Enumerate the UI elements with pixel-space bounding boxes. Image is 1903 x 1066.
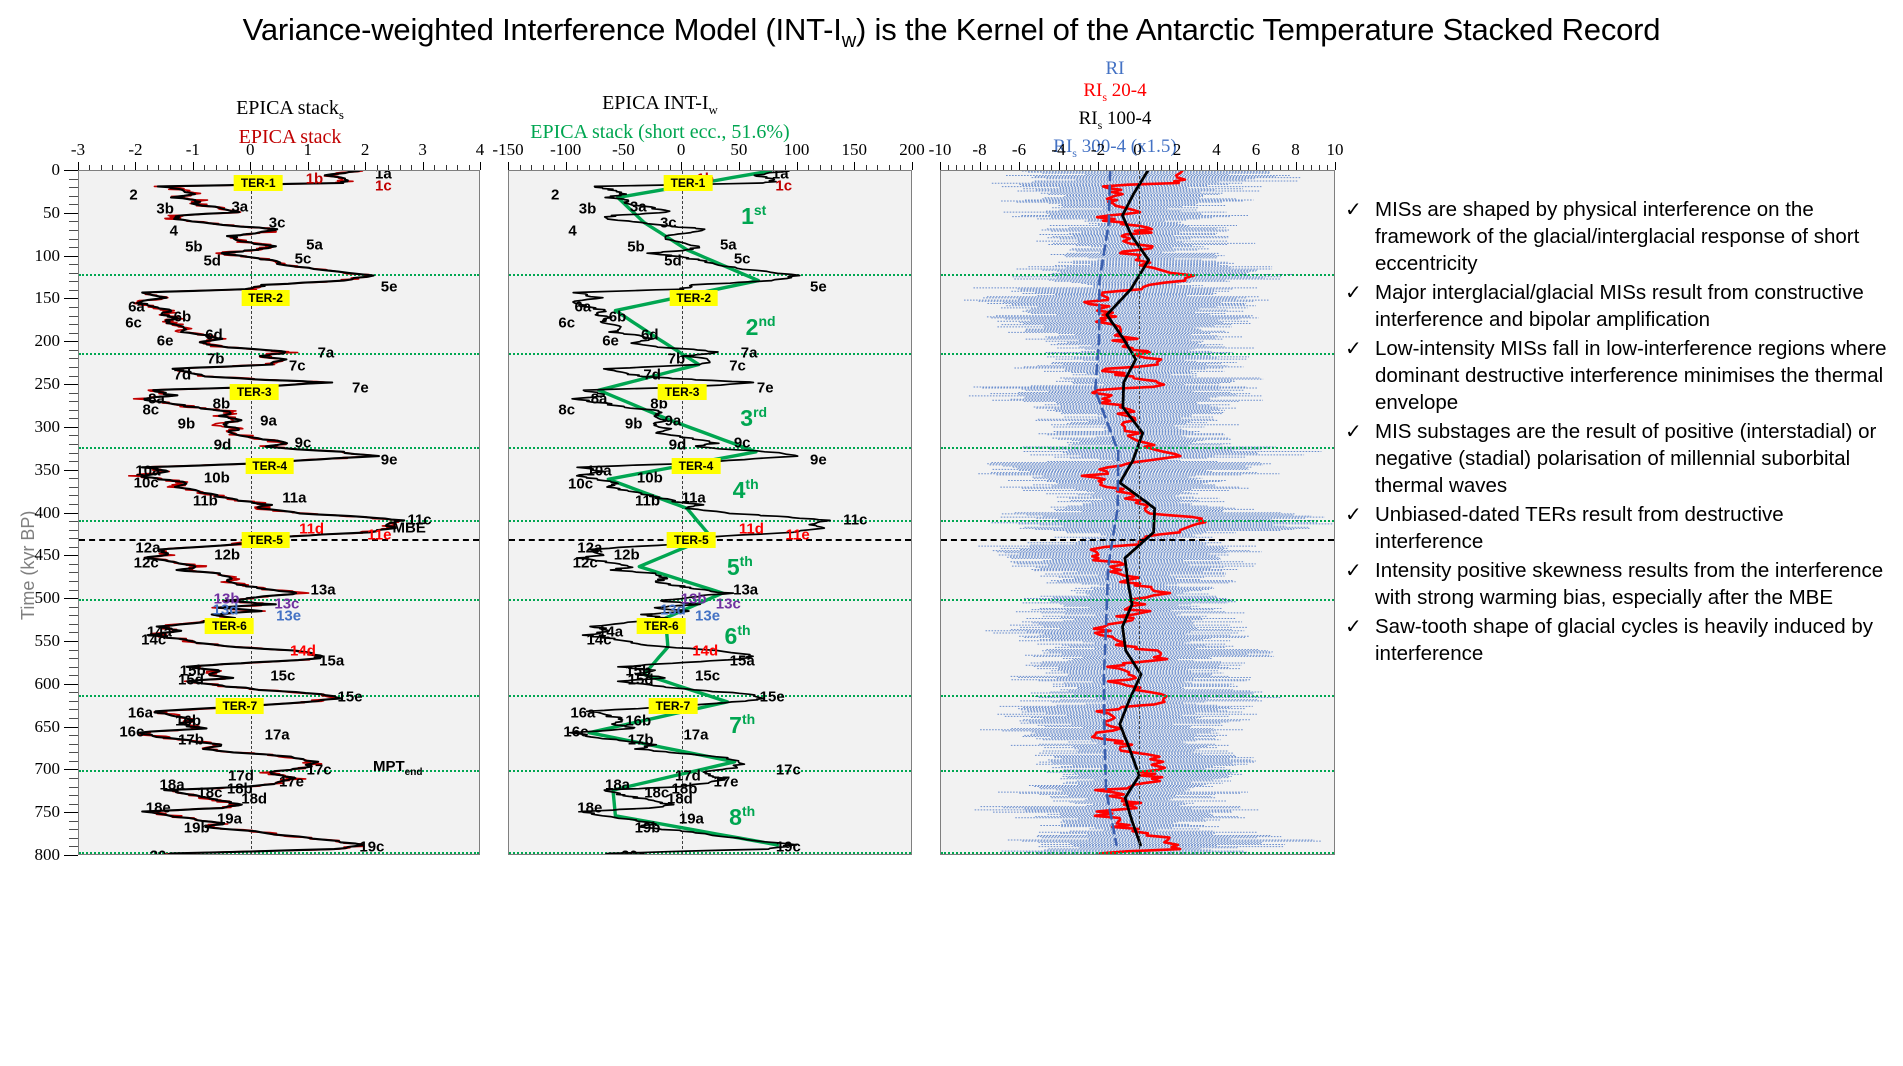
x-tick [956,165,957,170]
y-tick [64,684,78,685]
x-tick [1066,165,1067,170]
x-tick [600,165,601,170]
x-tick [704,165,705,170]
y-tick [69,204,78,205]
x-tick [1027,165,1028,170]
ordinal-number: 7 [729,712,742,738]
mis-label-5b: 5b [627,239,645,256]
x-tick [612,165,613,170]
mis-label-17e: 17e [279,773,304,790]
mis-label-7a: 7a [318,345,335,362]
conclusion-item: ✓Unbiased-dated TERs result from destruc… [1345,501,1890,555]
mis-label-5c: 5c [295,251,312,268]
mis-label-9a: 9a [260,413,277,430]
x-tick [1090,165,1091,170]
y-tick-label: 200 [0,331,60,351]
x-tick [623,162,624,170]
mis-label-18d: 18d [241,790,267,807]
mis-label-16a: 16a [128,705,153,722]
mis-label-7c: 7c [729,358,746,375]
x-tick-label: -1 [186,140,200,160]
mis-label-18d: 18d [667,790,693,807]
mis-label-15a: 15a [319,652,344,669]
x-tick [227,165,228,170]
y-tick [69,367,78,368]
x-tick [204,165,205,170]
marker-line [941,520,1334,522]
y-tick [69,444,78,445]
mis-label-11a: 11a [682,490,706,507]
x-tick-label: 200 [899,140,925,160]
ordinal-suffix: th [740,553,753,569]
mis-label-17b: 17b [628,731,654,748]
mis-label-7e: 7e [352,379,369,396]
ordinal-number: 3 [740,404,753,430]
legend-rest: 100-4 [1102,108,1151,129]
y-tick [69,487,78,488]
mis-label-9a: 9a [665,413,682,430]
mis-label-17c: 17c [307,761,332,778]
check-icon: ✓ [1345,279,1375,306]
conclusion-item: ✓MIS substages are the result of positiv… [1345,418,1890,499]
y-tick [64,170,78,171]
mis-label-3a: 3a [630,198,647,215]
termination-label-TER-4: TER-4 [672,458,721,474]
conclusion-item: ✓Low-intensity MISs fall in low-interfer… [1345,335,1890,416]
x-tick [727,165,728,170]
mis-label-19c: 19c [776,839,801,855]
y-tick [64,298,78,299]
x-tick-row-1 [78,162,480,170]
mis-label-4: 4 [568,222,576,239]
x-tick-label: 100 [784,140,810,160]
y-tick [69,401,78,402]
title-pre: Variance-weighted Interference Model (IN… [243,12,842,47]
mpt-label: MPTend [373,758,422,778]
y-tick [69,675,78,676]
x-tick [877,165,878,170]
ordinal-number: 8 [729,804,742,830]
y-tick [69,358,78,359]
termination-label-TER-5: TER-5 [241,532,290,548]
mis-label-9d: 9d [214,437,232,454]
x-tick [693,165,694,170]
panel2-plot[interactable]: 1a1b1c23b3a3c45b5a5d5c5e6a6b6c6d6e7b7a7c… [508,170,912,855]
mis-label-20a: 20a [150,848,175,856]
x-tick-label: -4 [1051,140,1065,160]
mis-label-3a: 3a [231,198,248,215]
legend-text: RI [1106,58,1125,79]
check-icon: ✓ [1345,557,1375,584]
termination-label-TER-6: TER-6 [205,618,254,634]
x-tick [1264,165,1265,170]
mis-label-15a: 15a [730,652,755,669]
mpt-sub: end [405,767,423,778]
mis-label-9c: 9c [734,435,751,452]
y-tick [69,521,78,522]
conclusion-text: Unbiased-dated TERs result from destruct… [1375,501,1890,555]
x-tick-label: -8 [972,140,986,160]
x-tick [1106,165,1107,170]
y-tick [69,264,78,265]
x-tick [181,165,182,170]
mis-label-7d: 7d [174,366,192,383]
cycle-ordinal-5: 5th [727,553,753,581]
y-tick [69,795,78,796]
mis-label-9c: 9c [295,435,312,452]
x-tick [889,165,890,170]
panel3-legend-item-1: RIs 20-4 [960,80,1270,108]
x-tick [681,162,682,170]
x-tick-label: 0 [246,140,255,160]
x-tick [1019,162,1020,170]
panel3-legend-item-2: RIs 100-4 [960,108,1270,136]
y-tick-label: 550 [0,631,60,651]
mis-label-18e: 18e [577,800,602,817]
mis-label-19a: 19a [217,811,242,828]
x-tick-label: 3 [418,140,427,160]
mis-label-18c: 18c [197,785,222,802]
mis-label-17b: 17b [178,731,204,748]
y-tick [69,615,78,616]
mis-label-3b: 3b [579,200,597,217]
x-tick [1201,165,1202,170]
x-tick [377,165,378,170]
x-tick [900,165,901,170]
x-tick-row-3 [940,162,1335,170]
x-tick [912,162,913,170]
x-tick [1074,165,1075,170]
conclusion-item: ✓Saw-tooth shape of glacial cycles is he… [1345,613,1890,667]
panel1-plot[interactable]: 1a1b1c23b3a3c45b5a5d5c5e6a6b6c6d6e7b7a7c… [78,170,480,855]
mis-label-7b: 7b [668,350,686,367]
x-tick-label: -2 [128,140,142,160]
conclusions-list: ✓MISs are shaped by physical interferenc… [1345,196,1890,669]
y-tick [69,196,78,197]
mis-label-11e: 11e [785,526,809,543]
mis-label-11b: 11b [193,492,218,509]
mis-label-7e: 7e [757,379,774,396]
ordinal-number: 2 [746,314,759,340]
x-tick [89,165,90,170]
y-tick [69,478,78,479]
mis-label-19a: 19a [679,811,704,828]
mis-label-13d: 13d [660,602,686,619]
x-tick [980,162,981,170]
mis-label-11c: 11c [843,512,867,529]
y-tick [69,461,78,462]
x-axis-labels-3: -10-8-6-4-20246810 [940,140,1335,162]
mis-label-16a: 16a [570,705,595,722]
x-tick-label: 10 [1327,140,1344,160]
mis-label-8c: 8c [558,401,575,418]
mis-label-18a: 18a [160,776,185,793]
y-tick [69,538,78,539]
x-tick [423,162,424,170]
mis-label-16c: 16c [563,723,588,740]
y-tick [69,179,78,180]
x-tick [1098,162,1099,170]
y-tick [69,453,78,454]
panel2-header-line1: EPICA INT-Iw [450,92,870,121]
y-tick-label: 350 [0,460,60,480]
y-tick [69,333,78,334]
x-tick-label: 8 [1291,140,1300,160]
mis-label-14c: 14c [141,632,166,649]
y-tick [69,376,78,377]
y-tick [69,650,78,651]
x-tick [987,165,988,170]
y-tick-label: 50 [0,203,60,223]
panel1-header-line1: EPICA stacks [100,97,480,126]
x-tick [78,162,79,170]
mis-label-18a: 18a [605,776,630,793]
x-tick [1177,162,1178,170]
x-tick [296,165,297,170]
y-tick [69,281,78,282]
y-tick [69,658,78,659]
x-tick [1130,165,1131,170]
mis-label-14d: 14d [692,643,718,660]
x-tick [566,162,567,170]
mis-label-19c: 19c [359,839,384,855]
cycle-ordinal-8: 8th [729,804,755,832]
x-tick [1240,165,1241,170]
mbe-line [941,539,1334,541]
title-post: ) is the Kernel of the Antarctic Tempera… [856,12,1660,47]
termination-label-TER-4: TER-4 [245,458,294,474]
x-tick [1003,165,1004,170]
mpt-text: MPT [373,758,405,775]
y-tick [69,230,78,231]
x-tick [670,165,671,170]
ordinal-suffix: th [742,804,755,820]
mis-label-11e: 11e [367,526,391,543]
x-tick [216,165,217,170]
y-tick [69,624,78,625]
mis-label-5c: 5c [734,251,751,268]
x-tick [400,165,401,170]
x-tick-label: -3 [71,140,85,160]
mis-label-1c: 1c [375,178,392,195]
x-tick [457,165,458,170]
x-tick [808,165,809,170]
y-tick [69,221,78,222]
y-tick [64,727,78,728]
mis-label-5d: 5d [664,252,682,269]
ordinal-number: 6 [725,623,738,649]
y-tick [69,393,78,394]
x-tick [995,165,996,170]
termination-label-TER-7: TER-7 [649,698,698,714]
ordinal-suffix: rd [753,404,767,420]
y-tick [69,752,78,753]
x-tick [1169,165,1170,170]
ordinal-suffix: th [737,622,750,638]
y-tick [69,564,78,565]
x-tick [739,162,740,170]
mis-label-7b: 7b [207,350,225,367]
ordinal-suffix: st [754,203,766,219]
mis-label-6b: 6b [609,308,627,325]
y-tick [69,667,78,668]
panel3-plot[interactable] [940,170,1335,855]
mis-label-11a: 11a [282,490,306,507]
mis-label-6d: 6d [205,326,223,343]
mis-label-12c: 12c [573,555,598,572]
mis-label-14c: 14c [587,632,612,649]
termination-label-TER-7: TER-7 [215,698,264,714]
y-tick [69,572,78,573]
mis-label-6a: 6a [575,299,592,316]
y-tick [69,709,78,710]
y-tick [69,435,78,436]
cycle-ordinal-3: 3rd [740,404,767,432]
mis-label-8b: 8b [213,395,231,412]
mis-label-15e: 15e [338,688,363,705]
x-tick-label: 150 [842,140,868,160]
y-tick [64,384,78,385]
mis-label-13a: 13a [311,581,336,598]
check-icon: ✓ [1345,613,1375,640]
x-tick [1248,165,1249,170]
x-tick-label: 4 [476,140,485,160]
mis-label-17a: 17a [265,727,290,744]
panel3-legend-item-0: RI [960,58,1270,80]
conclusion-item: ✓Major interglacial/glacial MISs result … [1345,279,1890,333]
x-tick [308,162,309,170]
x-tick-label: -150 [492,140,523,160]
termination-label-TER-1: TER-1 [234,175,283,191]
y-tick [64,470,78,471]
y-tick [69,273,78,274]
x-tick [866,165,867,170]
x-tick [762,165,763,170]
x-tick [820,165,821,170]
x-tick [785,165,786,170]
mis-label-3b: 3b [156,200,174,217]
x-tick [1138,162,1139,170]
ordinal-number: 1 [741,203,754,229]
x-tick [1153,165,1154,170]
y-tick-label: 500 [0,588,60,608]
x-tick [773,165,774,170]
y-tick-label: 750 [0,802,60,822]
x-tick [531,165,532,170]
x-tick-label: 0 [1133,140,1142,160]
mis-label-10b: 10b [637,469,663,486]
y-tick [69,495,78,496]
mis-label-9b: 9b [178,416,196,433]
int-iw-curve [570,171,830,855]
ordinal-suffix: th [745,476,758,492]
mis-label-15d: 15d [178,671,204,688]
x-tick [831,165,832,170]
termination-label-TER-2: TER-2 [241,290,290,306]
legend-rest: 20-4 [1107,80,1147,101]
x-tick [1051,165,1052,170]
y-tick-label: 0 [0,160,60,180]
mis-label-6e: 6e [602,332,619,349]
mis-label-12c: 12c [134,555,159,572]
check-icon: ✓ [1345,418,1375,445]
x-tick-label: -6 [1012,140,1026,160]
legend-text: RI [1083,80,1102,101]
x-tick [1232,165,1233,170]
x-tick [1272,165,1273,170]
x-tick [940,162,941,170]
mis-label-18c: 18c [644,785,669,802]
y-tick [64,213,78,214]
x-tick [342,165,343,170]
mis-label-6d: 6d [641,326,659,343]
x-tick [1296,162,1297,170]
termination-label-TER-5: TER-5 [667,532,716,548]
x-tick [193,162,194,170]
x-tick [1193,165,1194,170]
y-tick [69,846,78,847]
mis-label-2: 2 [551,186,559,203]
termination-label-TER-2: TER-2 [669,290,718,306]
conclusion-item: ✓Intensity positive skewness results fro… [1345,557,1890,611]
x-tick-label: 0 [677,140,686,160]
y-tick [64,341,78,342]
conclusion-text: Major interglacial/glacial MISs result f… [1375,279,1890,333]
y-tick [64,256,78,257]
cycle-ordinal-4: 4th [733,476,759,504]
x-tick-label: 6 [1252,140,1261,160]
x-tick [1319,165,1320,170]
x-tick [411,165,412,170]
mis-label-19b: 19b [184,819,210,836]
x-tick [388,165,389,170]
mis-label-3c: 3c [269,215,286,232]
mis-label-6e: 6e [157,332,174,349]
cycle-ordinal-6: 6th [725,622,751,650]
mis-label-13d: 13d [213,602,239,619]
x-tick [135,162,136,170]
mis-label-4: 4 [170,222,178,239]
x-tick [635,165,636,170]
mis-label-19b: 19b [635,819,661,836]
y-tick [69,829,78,830]
mis-label-15e: 15e [760,688,785,705]
x-tick [124,165,125,170]
y-tick-label: 450 [0,545,60,565]
x-tick [750,165,751,170]
mis-label-12b: 12b [614,547,640,564]
mis-label-5e: 5e [810,278,827,295]
y-tick [69,804,78,805]
x-tick [1224,165,1225,170]
marker-line [941,353,1334,355]
x-tick [1185,165,1186,170]
mis-label-1b: 1b [306,170,324,187]
x-tick [716,165,717,170]
mis-label-8a: 8a [591,390,608,407]
x-tick [577,165,578,170]
mis-label-16b: 16b [175,712,201,729]
x-tick [1122,165,1123,170]
x-tick-label: -50 [612,140,635,160]
title-sub: w [842,30,856,52]
mis-label-5d: 5d [203,252,221,269]
conclusion-text: MISs are shaped by physical interference… [1375,196,1890,277]
mis-label-17a: 17a [683,727,708,744]
x-tick [331,165,332,170]
x-tick [480,162,481,170]
mis-label-10c: 10c [134,474,159,491]
